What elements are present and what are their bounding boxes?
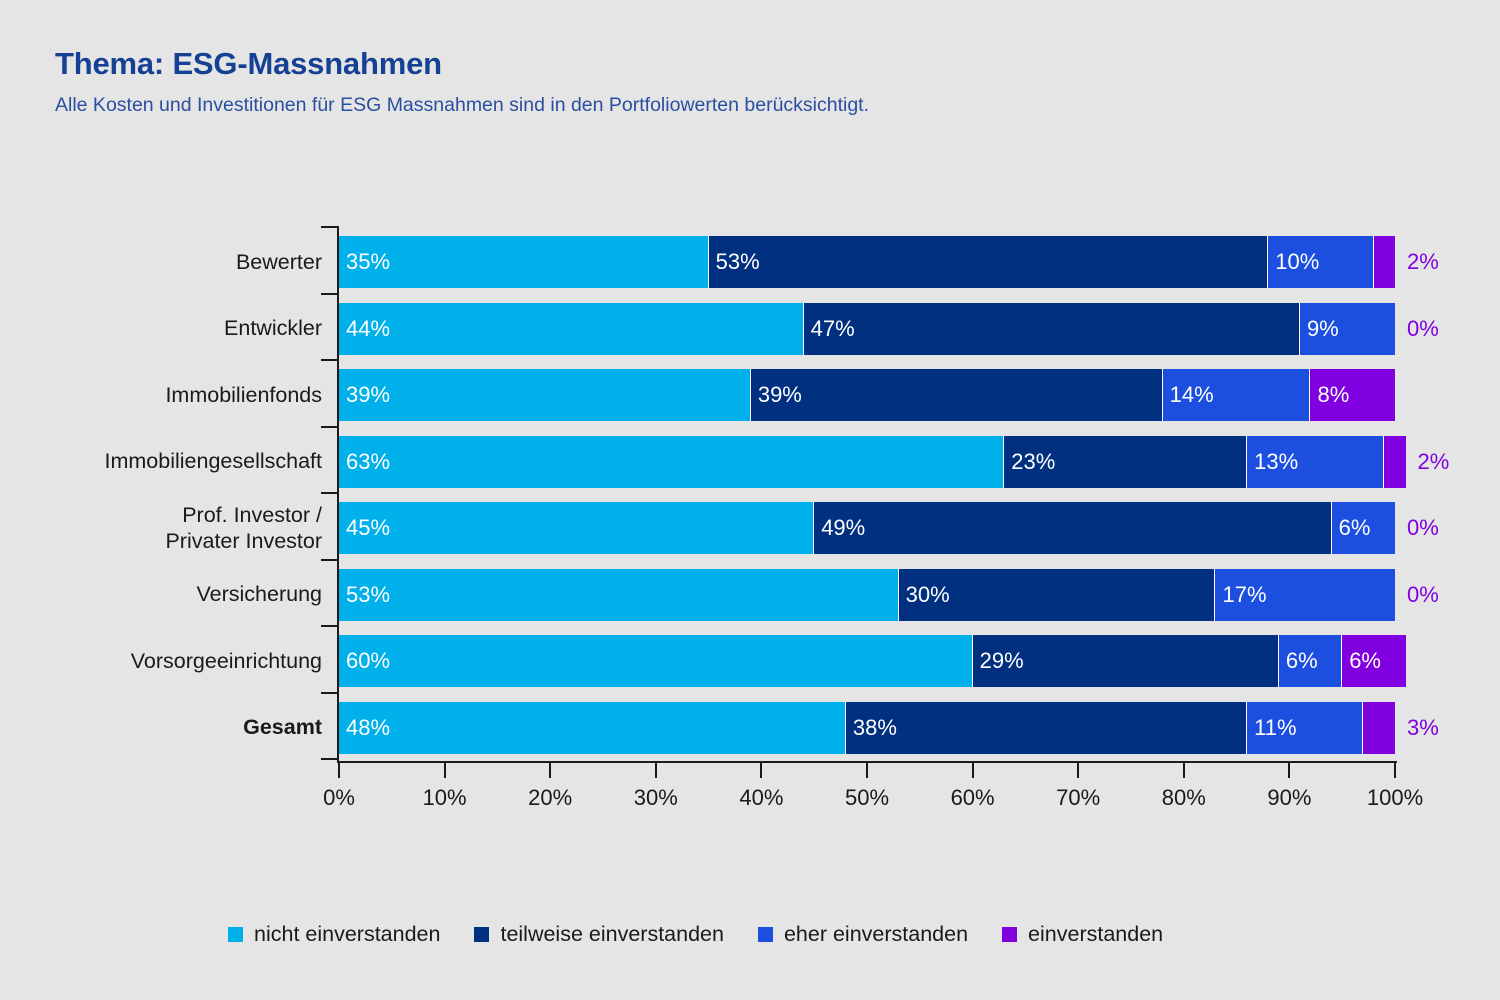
bar-segment[interactable]: 63% <box>339 436 1004 488</box>
bar-row[interactable]: 39%39%14%8% <box>339 369 1395 421</box>
x-axis-tick-label: 40% <box>739 785 783 811</box>
bar-segment-label: 8% <box>1310 384 1349 406</box>
legend-label: einverstanden <box>1028 922 1163 947</box>
bar-row[interactable]: 45%49%6% <box>339 502 1395 554</box>
x-axis-tick-label: 70% <box>1056 785 1100 811</box>
bar-segment-label: 45% <box>339 517 390 539</box>
y-axis-tick <box>321 359 338 361</box>
bar-segment-label: 6% <box>1279 650 1318 672</box>
legend-swatch-icon <box>758 927 773 942</box>
bar-segment-label: 44% <box>339 318 390 340</box>
y-axis-tick <box>321 426 338 428</box>
category-label-line: Gesamt <box>243 714 322 740</box>
bar-segment[interactable]: 47% <box>804 303 1300 355</box>
category-label-line: Immobiliengesellschaft <box>105 448 323 474</box>
category-label-line: Entwickler <box>224 315 322 341</box>
x-axis-tick-label: 30% <box>634 785 678 811</box>
bar-segment-outside-label: 2% <box>1418 436 1450 488</box>
bar-segment-label: 10% <box>1268 251 1319 273</box>
bar-segment-label: 35% <box>339 251 390 273</box>
category-label: Prof. Investor /Privater Investor <box>0 502 322 554</box>
bar-segment[interactable] <box>1374 236 1395 288</box>
bar-segment-outside-label: 0% <box>1407 502 1439 554</box>
legend-label: nicht einverstanden <box>254 922 440 947</box>
x-axis-tick-label: 80% <box>1162 785 1206 811</box>
category-label: Immobilienfonds <box>0 369 322 421</box>
category-label: Versicherung <box>0 569 322 621</box>
chart-legend: nicht einverstandenteilweise einverstand… <box>228 922 1163 947</box>
x-axis-tick-label: 60% <box>951 785 995 811</box>
bar-segment[interactable]: 39% <box>339 369 751 421</box>
bar-segment-label: 11% <box>1247 717 1296 739</box>
bar-segment-outside-label: 3% <box>1407 702 1439 754</box>
bar-segment-label: 39% <box>751 384 802 406</box>
y-axis-tick <box>321 492 338 494</box>
x-axis-tick <box>655 763 657 778</box>
bar-segment-outside-label: 0% <box>1407 303 1439 355</box>
x-axis-tick <box>549 763 551 778</box>
category-label-line: Immobilienfonds <box>165 382 322 408</box>
bar-segment[interactable]: 10% <box>1268 236 1374 288</box>
category-label: Entwickler <box>0 303 322 355</box>
bar-segment[interactable]: 29% <box>973 635 1279 687</box>
x-axis-tick <box>866 763 868 778</box>
x-axis-tick-label: 0% <box>323 785 355 811</box>
x-axis-tick <box>1077 763 1079 778</box>
x-axis-tick-label: 90% <box>1267 785 1311 811</box>
y-axis-tick <box>321 692 338 694</box>
legend-swatch-icon <box>228 927 243 942</box>
bar-segment[interactable]: 48% <box>339 702 846 754</box>
x-axis-tick-label: 100% <box>1367 785 1423 811</box>
bar-segment-label: 63% <box>339 451 390 473</box>
x-axis-tick <box>1288 763 1290 778</box>
y-axis-tick <box>321 293 338 295</box>
bar-segment-label: 6% <box>1332 517 1371 539</box>
y-axis-tick <box>321 625 338 627</box>
category-label: Bewerter <box>0 236 322 288</box>
bar-segment[interactable]: 35% <box>339 236 709 288</box>
category-label-line: Prof. Investor / <box>165 502 322 528</box>
bar-segment[interactable]: 6% <box>1279 635 1342 687</box>
bar-row[interactable]: 63%23%13% <box>339 436 1406 488</box>
x-axis-tick-label: 10% <box>423 785 467 811</box>
legend-swatch-icon <box>474 927 489 942</box>
legend-item[interactable]: teilweise einverstanden <box>474 922 724 947</box>
bar-row[interactable]: 44%47%9% <box>339 303 1395 355</box>
x-axis-tick-label: 20% <box>528 785 572 811</box>
bar-segment[interactable]: 39% <box>751 369 1163 421</box>
bar-segment-outside-label: 2% <box>1407 236 1439 288</box>
bar-segment-label: 49% <box>814 517 865 539</box>
bar-segment-label: 9% <box>1300 318 1339 340</box>
bar-segment[interactable]: 23% <box>1004 436 1247 488</box>
x-axis-tick <box>1394 763 1396 778</box>
bar-segment-label: 38% <box>846 717 897 739</box>
bar-segment-outside-label: 0% <box>1407 569 1439 621</box>
bar-segment-label: 30% <box>899 584 950 606</box>
stacked-bar-chart: 0%10%20%30%40%50%60%70%80%90%100% Bewert… <box>0 0 1500 1000</box>
bar-row[interactable]: 35%53%10% <box>339 236 1395 288</box>
bar-segment-label: 47% <box>804 318 855 340</box>
bar-segment[interactable] <box>1363 702 1395 754</box>
bar-segment-label: 13% <box>1247 451 1298 473</box>
bar-segment-label: 53% <box>339 584 390 606</box>
bar-segment[interactable]: 53% <box>709 236 1269 288</box>
x-axis-tick <box>1183 763 1185 778</box>
bar-segment[interactable]: 60% <box>339 635 973 687</box>
bar-segment[interactable]: 6% <box>1342 635 1405 687</box>
bar-segment[interactable]: 17% <box>1215 569 1395 621</box>
bar-segment-label: 14% <box>1163 384 1214 406</box>
legend-item[interactable]: nicht einverstanden <box>228 922 440 947</box>
bar-segment[interactable] <box>1384 436 1405 488</box>
category-label-line: Privater Investor <box>165 528 322 554</box>
category-label-line: Bewerter <box>236 249 322 275</box>
y-axis-tick <box>321 559 338 561</box>
bar-segment[interactable]: 11% <box>1247 702 1363 754</box>
bar-segment[interactable]: 44% <box>339 303 804 355</box>
bar-row[interactable]: 53%30%17% <box>339 569 1395 621</box>
bar-segment-label: 6% <box>1342 650 1381 672</box>
legend-item[interactable]: einverstanden <box>1002 922 1163 947</box>
bar-segment[interactable]: 49% <box>814 502 1331 554</box>
bar-segment-label: 17% <box>1215 584 1266 606</box>
bar-segment[interactable]: 30% <box>899 569 1216 621</box>
bar-segment[interactable]: 8% <box>1310 369 1394 421</box>
bar-segment-label: 23% <box>1004 451 1055 473</box>
legend-label: teilweise einverstanden <box>500 922 724 947</box>
bar-row[interactable]: 48%38%11% <box>339 702 1395 754</box>
bar-segment-label: 60% <box>339 650 390 672</box>
x-axis-tick <box>444 763 446 778</box>
x-axis-tick-label: 50% <box>845 785 889 811</box>
category-label: Immobiliengesellschaft <box>0 436 322 488</box>
category-label: Gesamt <box>0 702 322 754</box>
bar-segment[interactable]: 38% <box>846 702 1247 754</box>
bar-row[interactable]: 60%29%6%6% <box>339 635 1406 687</box>
bar-segment[interactable]: 14% <box>1163 369 1311 421</box>
category-label-line: Versicherung <box>197 581 323 607</box>
bar-segment-label: 53% <box>709 251 760 273</box>
x-axis-tick <box>972 763 974 778</box>
bar-segment[interactable]: 9% <box>1300 303 1395 355</box>
category-label-line: Vorsorgeeinrichtung <box>131 648 322 674</box>
y-axis-tick <box>321 758 338 760</box>
bar-segment[interactable]: 13% <box>1247 436 1384 488</box>
legend-swatch-icon <box>1002 927 1017 942</box>
bar-segment[interactable]: 6% <box>1332 502 1395 554</box>
legend-label: eher einverstanden <box>784 922 968 947</box>
category-label: Vorsorgeeinrichtung <box>0 635 322 687</box>
x-axis-tick <box>338 763 340 778</box>
bar-segment-label: 29% <box>973 650 1024 672</box>
bar-segment[interactable]: 45% <box>339 502 814 554</box>
legend-item[interactable]: eher einverstanden <box>758 922 968 947</box>
bar-segment[interactable]: 53% <box>339 569 899 621</box>
y-axis-tick <box>321 226 338 228</box>
bar-segment-label: 48% <box>339 717 390 739</box>
x-axis-tick <box>760 763 762 778</box>
bar-segment-label: 39% <box>339 384 390 406</box>
